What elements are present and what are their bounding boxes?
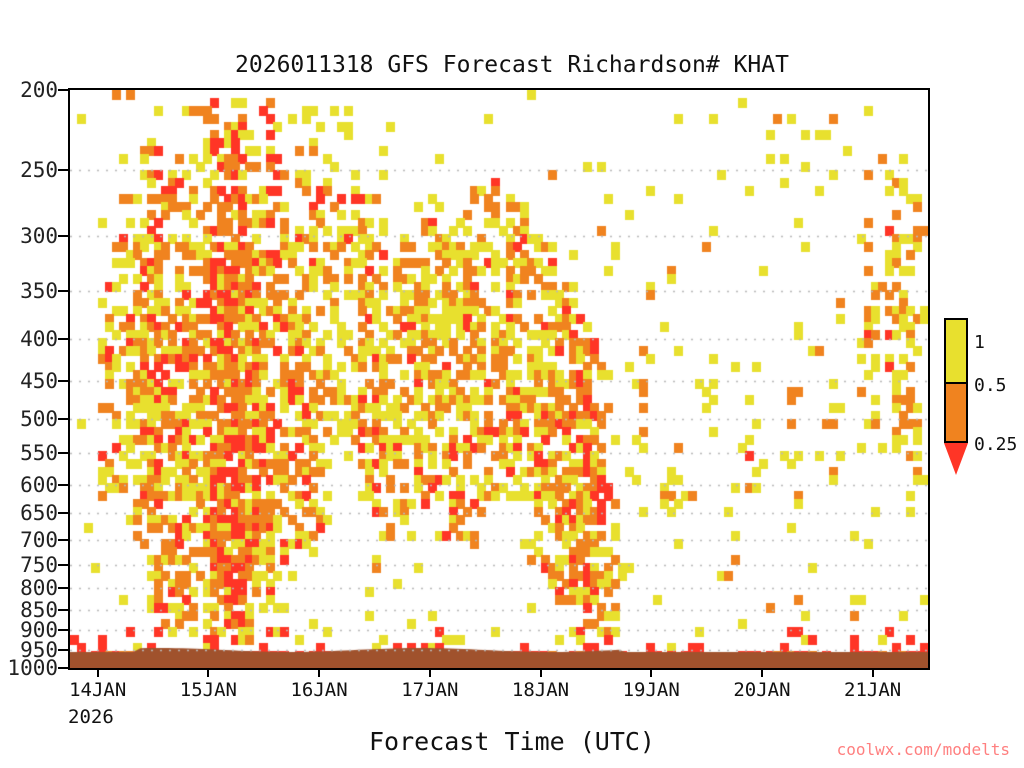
chart-page: 2026011318 GFS Forecast Richardson# KHAT…	[0, 0, 1024, 768]
x-tick-label-15JAN: 15JAN	[163, 679, 253, 701]
colorbar-white-cap	[944, 296, 968, 318]
gridlines-canvas	[70, 90, 928, 668]
y-tick-mark	[58, 512, 68, 514]
x-tick-mark	[540, 668, 542, 677]
y-tick-label-750: 750	[20, 553, 58, 577]
x-tick-label-18JAN: 18JAN	[496, 679, 586, 701]
y-tick-mark	[58, 169, 68, 171]
y-tick-label-550: 550	[20, 441, 58, 465]
y-tick-label-450: 450	[20, 369, 58, 393]
colorbar-band-0	[946, 320, 966, 382]
y-tick-label-350: 350	[20, 279, 58, 303]
y-tick-mark	[58, 587, 68, 589]
y-tick-label-500: 500	[20, 407, 58, 431]
y-tick-label-200: 200	[20, 78, 58, 102]
y-tick-mark	[58, 629, 68, 631]
y-tick-mark	[58, 380, 68, 382]
y-tick-label-400: 400	[20, 327, 58, 351]
y-tick-mark	[58, 609, 68, 611]
y-tick-mark	[58, 667, 68, 669]
colorbar-label-0.25: 0.25	[974, 434, 1017, 455]
x-tick-label-20JAN: 20JAN	[717, 679, 807, 701]
x-tick-mark	[650, 668, 652, 677]
y-tick-mark	[58, 564, 68, 566]
watermark: coolwx.com/modelts	[837, 740, 1010, 759]
x-tick-label-14JAN: 14JAN	[53, 679, 143, 701]
x-tick-label-21JAN: 21JAN	[828, 679, 918, 701]
y-tick-label-600: 600	[20, 473, 58, 497]
y-tick-mark	[58, 484, 68, 486]
colorbar-bottom-arrow	[944, 443, 968, 475]
y-tick-mark	[58, 290, 68, 292]
x-tick-label-17JAN: 17JAN	[385, 679, 475, 701]
x-tick-label-19JAN: 19JAN	[606, 679, 696, 701]
y-tick-label-650: 650	[20, 501, 58, 525]
y-tick-label-700: 700	[20, 528, 58, 552]
colorbar-band-1	[946, 382, 966, 441]
y-tick-label-1000: 1000	[7, 656, 58, 680]
x-tick-mark	[207, 668, 209, 677]
x-tick-mark	[318, 668, 320, 677]
y-tick-label-800: 800	[20, 576, 58, 600]
y-tick-label-250: 250	[20, 158, 58, 182]
y-tick-label-300: 300	[20, 224, 58, 248]
y-tick-mark	[58, 539, 68, 541]
colorbar-label-1: 1	[974, 332, 985, 353]
colorbar-label-0.5: 0.5	[974, 375, 1007, 396]
y-tick-mark	[58, 338, 68, 340]
x-tick-mark	[429, 668, 431, 677]
y-tick-mark	[58, 235, 68, 237]
y-tick-mark	[58, 649, 68, 651]
chart-title: 2026011318 GFS Forecast Richardson# KHAT	[0, 52, 1024, 78]
x-tick-mark	[872, 668, 874, 677]
x-tick-mark	[761, 668, 763, 677]
year-label: 2026	[68, 706, 114, 728]
y-tick-mark	[58, 452, 68, 454]
x-tick-label-16JAN: 16JAN	[274, 679, 364, 701]
colorbar	[944, 318, 968, 443]
y-tick-mark	[58, 418, 68, 420]
x-tick-mark	[97, 668, 99, 677]
y-tick-mark	[58, 89, 68, 91]
plot-area	[68, 88, 930, 670]
